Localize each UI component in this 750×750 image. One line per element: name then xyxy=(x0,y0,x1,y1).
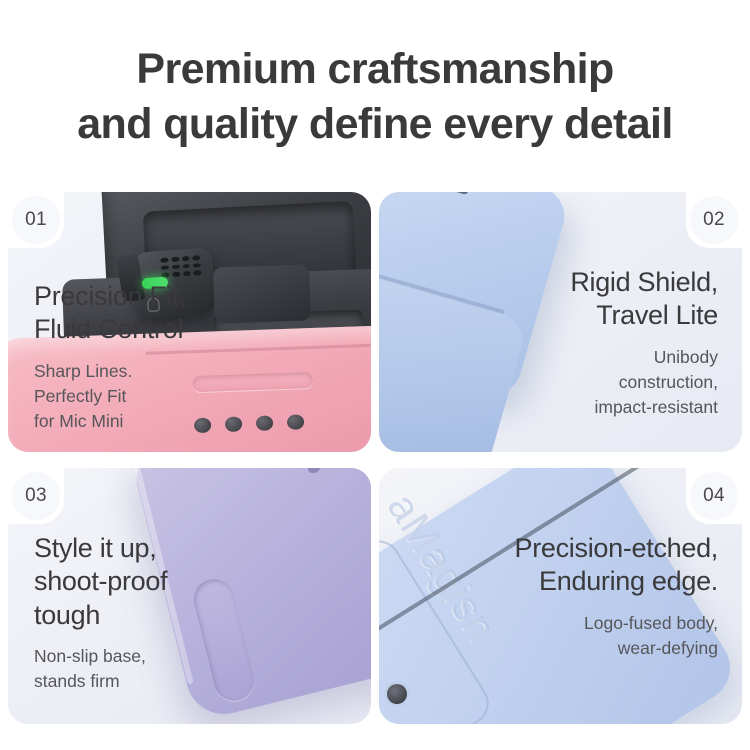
card-title-03: Style it up, shoot-proof tough xyxy=(34,532,234,632)
feature-card-04[interactable]: aMagisn 04 Precision-etched, Enduring ed… xyxy=(379,468,742,724)
product-feature-page: Premium craftsmanship and quality define… xyxy=(0,0,750,750)
card-badge-02: 02 xyxy=(690,196,738,244)
feature-card-01[interactable]: MIC MINI xyxy=(8,192,371,452)
feature-card-02[interactable]: agisn 02 Rigid Shield, Travel Lite Unibo… xyxy=(379,192,742,452)
lens-icon xyxy=(387,684,407,704)
card-text-02: Rigid Shield, Travel Lite Unibody constr… xyxy=(498,266,718,419)
headline-line-1: Premium craftsmanship xyxy=(136,45,613,93)
card-subtitle-04: Logo-fused body, wear-defying xyxy=(468,611,718,661)
feature-card-03[interactable]: 03 Style it up, shoot-proof tough Non-sl… xyxy=(8,468,371,724)
card-subtitle-02: Unibody construction, impact-resistant xyxy=(498,345,718,420)
card-badge-03: 03 xyxy=(12,472,60,520)
card-badge-01: 01 xyxy=(12,196,60,244)
card-badge-04: 04 xyxy=(690,472,738,520)
card-title-02: Rigid Shield, Travel Lite xyxy=(498,266,718,333)
card-title-04: Precision-etched, Enduring edge. xyxy=(468,532,718,599)
card-text-01: Precision Fit, Fluid Control Sharp Lines… xyxy=(34,280,244,433)
card-text-03: Style it up, shoot-proof tough Non-slip … xyxy=(34,532,234,694)
card-subtitle-03: Non-slip base, stands firm xyxy=(34,644,234,694)
feature-card-grid: MIC MINI xyxy=(8,192,742,724)
card-title-01: Precision Fit, Fluid Control xyxy=(34,280,244,347)
card-text-04: Precision-etched, Enduring edge. Logo-fu… xyxy=(468,532,718,661)
card-subtitle-01: Sharp Lines. Perfectly Fit for Mic Mini xyxy=(34,359,244,434)
headline-line-2: and quality define every detail xyxy=(0,97,750,152)
page-title: Premium craftsmanship and quality define… xyxy=(0,42,750,152)
